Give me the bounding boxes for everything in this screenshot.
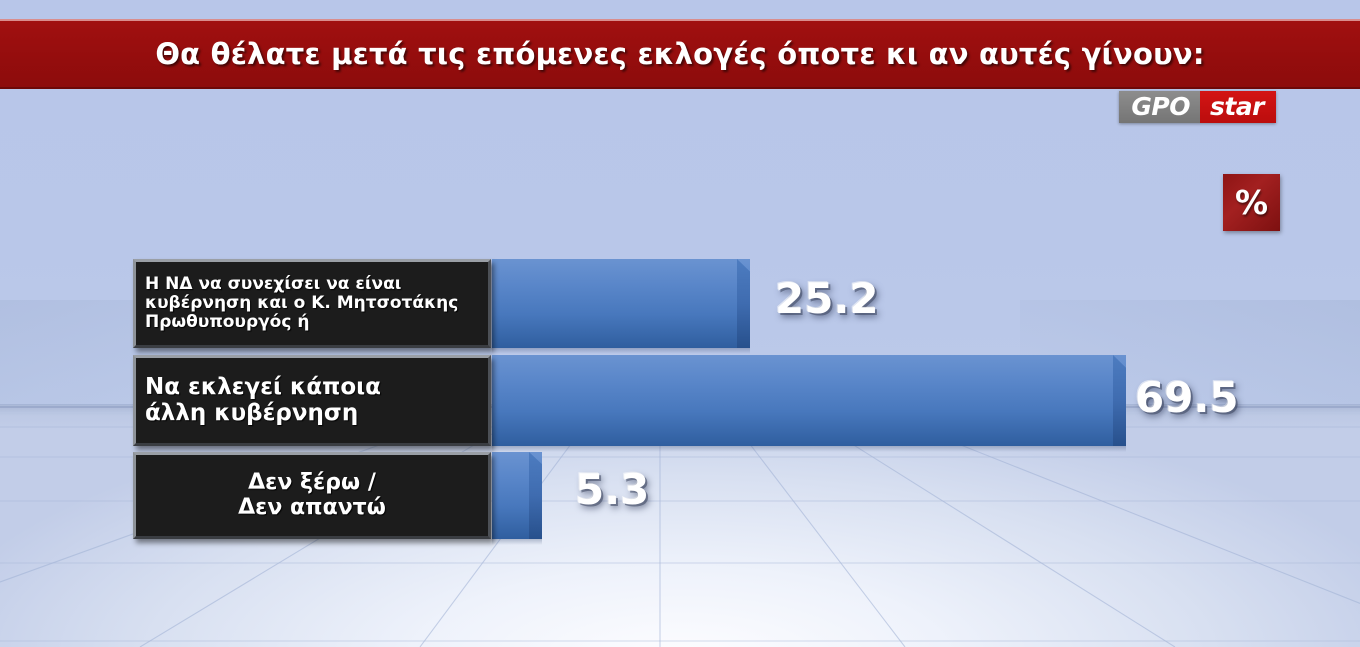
category-label-2: Να εκλεγεί κάποια άλλη κυβέρνηση [133,355,491,446]
category-label-2-text: Να εκλεγεί κάποια άλλη κυβέρνηση [136,375,488,427]
value-label-3: 5.3 [575,469,649,511]
value-label-2: 69.5 [1135,377,1239,419]
bar-2-face [492,355,1126,446]
bar-3 [492,452,542,539]
bar-3-shadow [492,538,542,545]
category-label-3: Δεν ξέρω / Δεν απαντώ [133,452,491,539]
value-label-1: 25.2 [775,278,879,320]
bar-1-bevel [737,259,750,348]
bar-1-shadow [492,347,750,354]
bar-3-bevel [529,452,542,539]
category-label-1-text: Η ΝΔ να συνεχίσει να είναι κυβέρνηση και… [136,275,488,332]
bar-chart: Η ΝΔ να συνεχίσει να είναι κυβέρνηση και… [0,0,1360,647]
category-label-1: Η ΝΔ να συνεχίσει να είναι κυβέρνηση και… [133,259,491,348]
bar-1 [492,259,750,348]
category-label-3-text: Δεν ξέρω / Δεν απαντώ [136,471,488,520]
bar-2-shadow [492,445,1126,452]
poll-graphic: Θα θέλατε μετά τις επόμενες εκλογές όποτ… [0,0,1360,647]
bar-2 [492,355,1126,446]
bar-1-face [492,259,750,348]
bar-2-bevel [1113,355,1126,446]
